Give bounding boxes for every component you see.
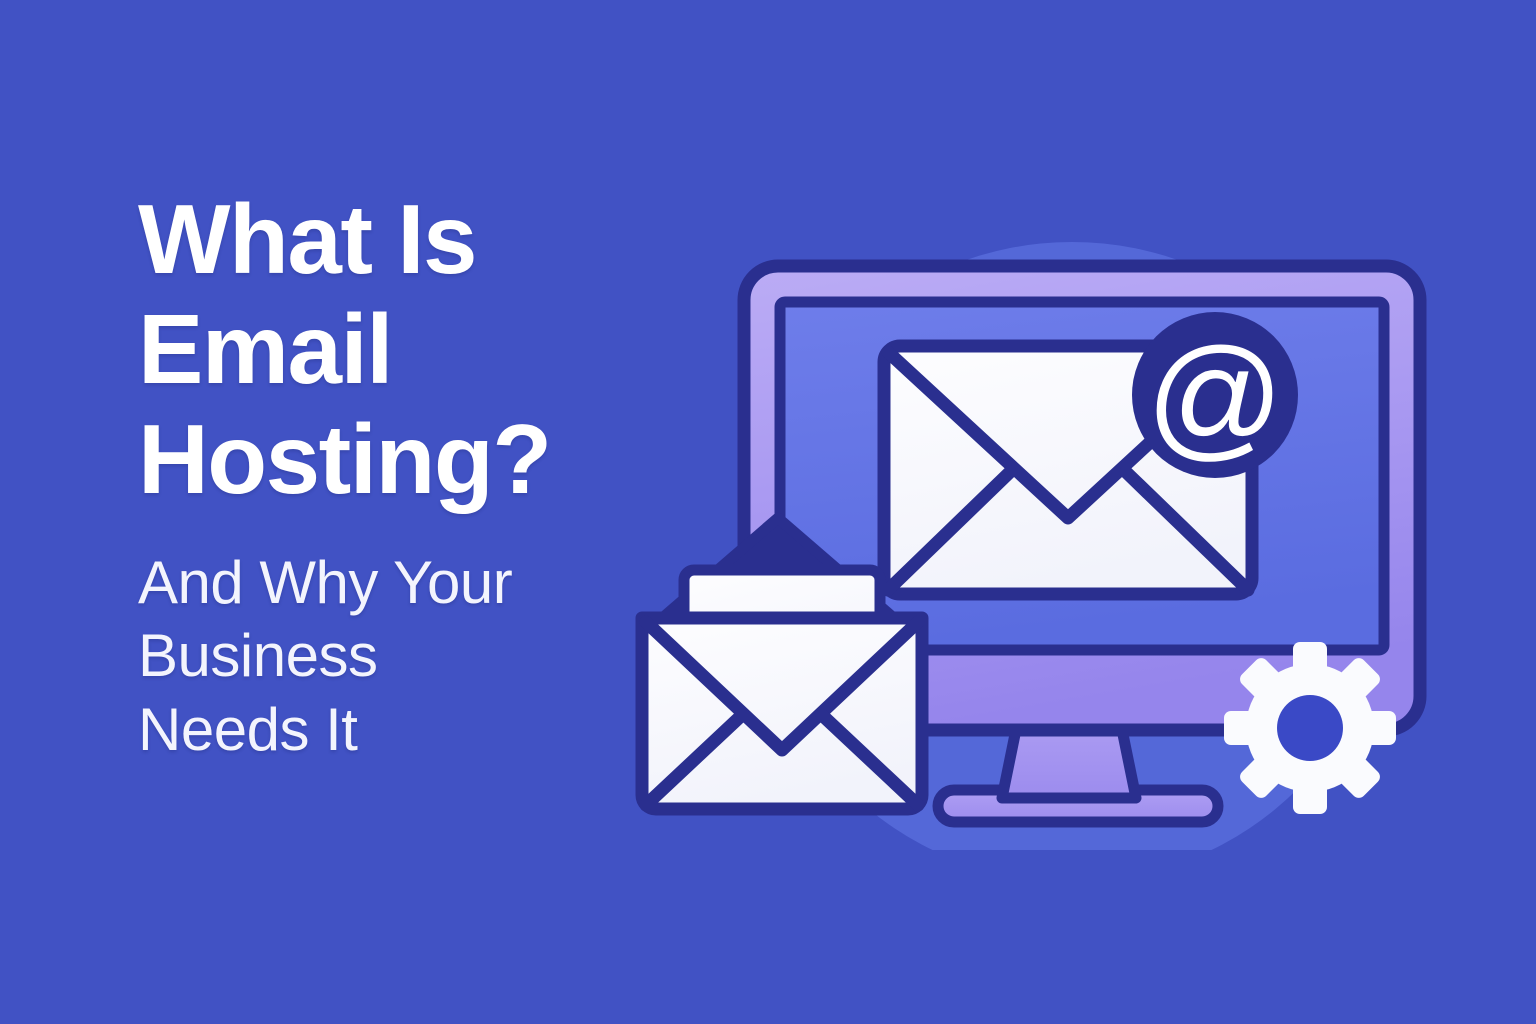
hero-banner: What Is Email Hosting? And Why Your Busi… bbox=[0, 0, 1536, 1024]
email-hosting-illustration: @ bbox=[620, 150, 1480, 850]
at-glyph: @ bbox=[1146, 320, 1284, 472]
page-subtitle: And Why Your Business Needs It bbox=[138, 514, 698, 766]
envelope-body bbox=[642, 618, 922, 809]
gear-icon bbox=[1224, 642, 1396, 814]
at-sign-icon: @ bbox=[1132, 312, 1298, 478]
hero-text-block: What Is Email Hosting? And Why Your Busi… bbox=[138, 185, 698, 766]
page-title: What Is Email Hosting? bbox=[138, 185, 698, 514]
